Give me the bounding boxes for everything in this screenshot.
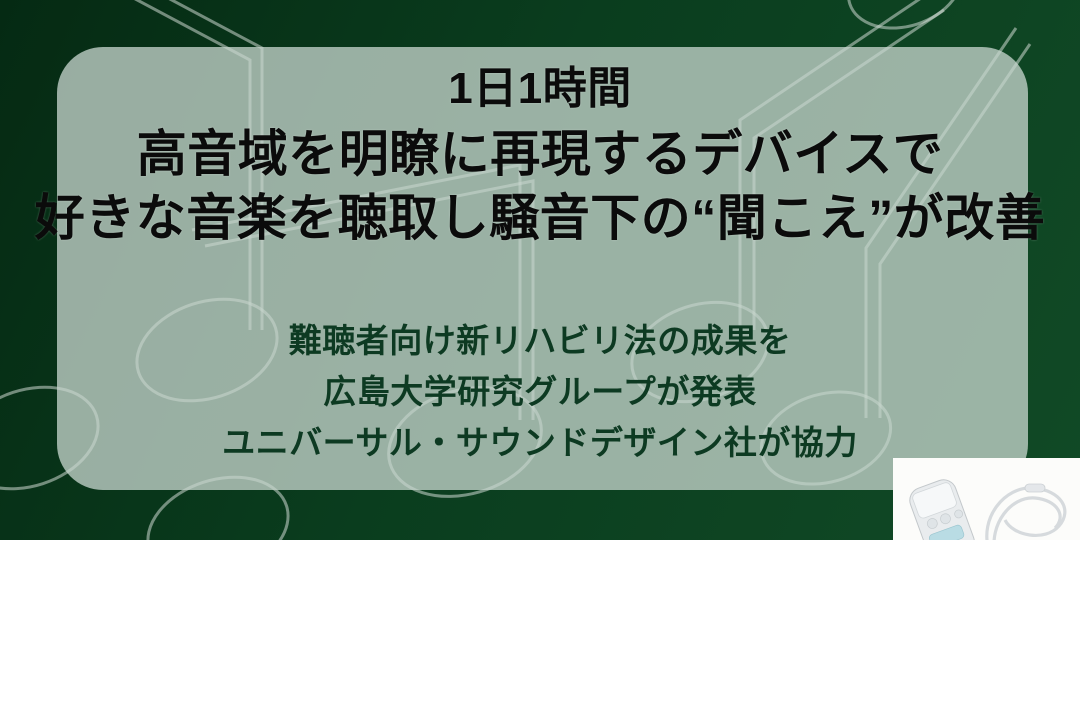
headline-line-2: 高音域を明瞭に再現するデバイスで [0, 122, 1080, 186]
hearing-device-illustration [893, 458, 1080, 540]
product-photo [893, 458, 1080, 540]
subheadline-block: 難聴者向け新リハビリ法の成果を 広島大学研究グループが発表 ユニバーサル・サウン… [0, 315, 1080, 468]
footer-bar: HIROSHIMA 広島大学 universal sound design® L… [0, 540, 1080, 720]
subheadline-line-1: 難聴者向け新リハビリ法の成果を [0, 315, 1080, 366]
subheadline-line-2: 広島大学研究グループが発表 [0, 366, 1080, 417]
hero-banner: 1日1時間 高音域を明瞭に再現するデバイスで 好きな音楽を聴取し騒音下の“聞こえ… [0, 0, 1080, 540]
poster-canvas: 1日1時間 高音域を明瞭に再現するデバイスで 好きな音楽を聴取し騒音下の“聞こえ… [0, 0, 1080, 720]
headline-line-3: 好きな音楽を聴取し騒音下の“聞こえ”が改善 [0, 186, 1080, 250]
headline-block: 1日1時間 高音域を明瞭に再現するデバイスで 好きな音楽を聴取し騒音下の“聞こえ… [0, 62, 1080, 250]
headline-line-1: 1日1時間 [0, 62, 1080, 116]
